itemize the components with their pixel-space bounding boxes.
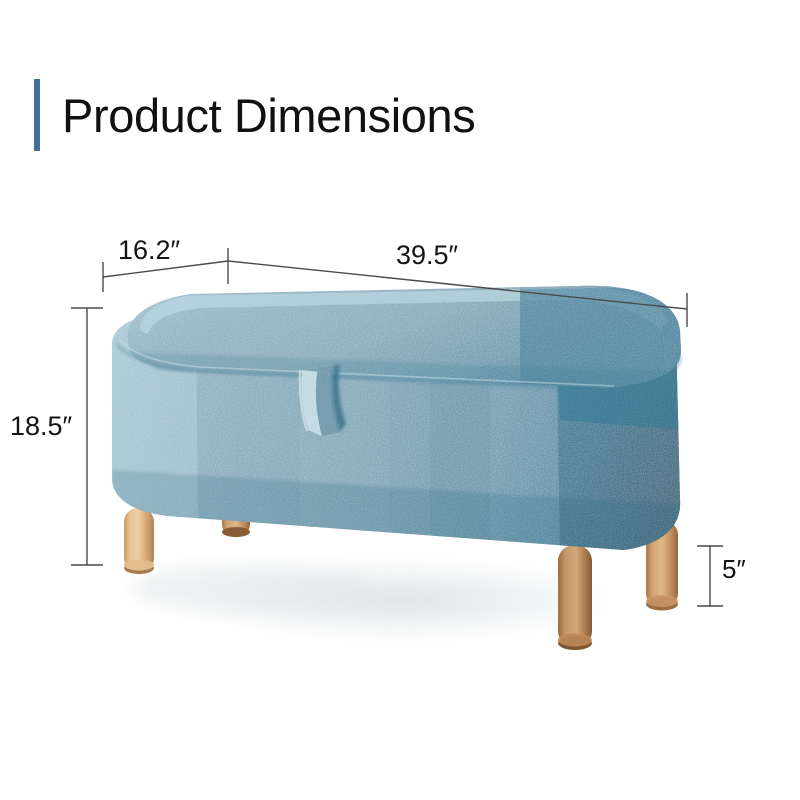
dimension-height [71, 308, 103, 565]
dimension-leg-height [697, 546, 723, 606]
dimension-label-depth: 16.2″ [118, 235, 180, 266]
dimension-label-leg-height: 5″ [722, 554, 746, 585]
leg-front-right [558, 545, 592, 650]
bench-svg [0, 0, 800, 800]
dimension-label-height: 18.5″ [10, 411, 72, 442]
bench-illustration [0, 0, 800, 800]
leg-front-left [124, 508, 154, 574]
dimension-label-width: 39.5″ [396, 240, 458, 271]
product-dimensions-graphic: Product Dimensions [0, 0, 800, 800]
